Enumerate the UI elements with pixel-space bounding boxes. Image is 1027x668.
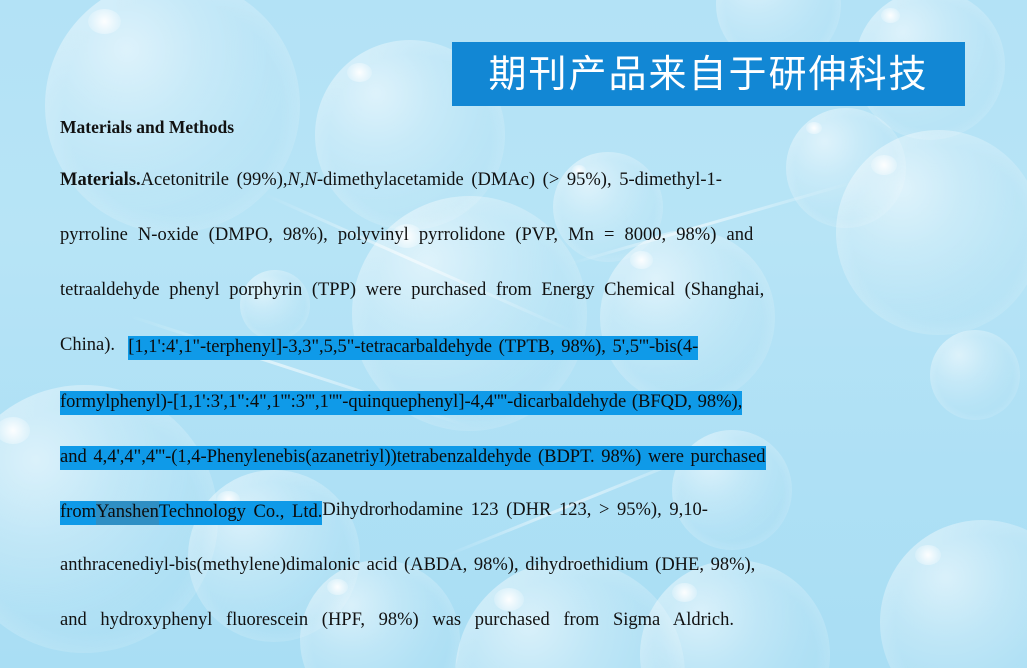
text-segment: and hydroxyphenyl fluorescein (HPF, 98%)… xyxy=(60,611,734,630)
selected-text-highlight[interactable]: Technology Co., Ltd. xyxy=(159,501,322,525)
title-banner: 期刊产品来自于研伸科技 xyxy=(452,42,965,106)
document-page: 期刊产品来自于研伸科技 Materials and Methods Materi… xyxy=(0,0,1027,668)
section-heading: Materials and Methods xyxy=(60,118,972,137)
text-segment: Acetonitrile (99%), xyxy=(141,171,288,190)
text-segment: China). xyxy=(60,336,128,355)
text-segment: Materials. xyxy=(60,171,141,190)
paragraph-line: pyrroline N-oxide (DMPO, 98%), polyvinyl… xyxy=(60,226,972,281)
selected-text-highlight[interactable]: and 4,4',4",4'''-(1,4-Phenylenebis(azane… xyxy=(60,446,766,470)
materials-paragraph[interactable]: Materials. Acetonitrile (99%), N,N-dimet… xyxy=(60,171,972,666)
text-segment: -dimethylacetamide (DMAc) (> 95%), 5-dim… xyxy=(317,171,722,190)
paragraph-line: and 4,4',4",4'''-(1,4-Phenylenebis(azane… xyxy=(60,446,972,501)
paragraph-line: China). [1,1':4',1"-terphenyl]-3,3",5,5"… xyxy=(60,336,972,391)
text-segment: Dihydrorhodamine 123 (DHR 123, > 95%), 9… xyxy=(322,501,708,520)
text-segment: tetraaldehyde phenyl porphyrin (TPP) wer… xyxy=(60,281,764,300)
document-body: Materials and Methods Materials. Acetoni… xyxy=(60,118,972,666)
banner-title-text: 期刊产品来自于研伸科技 xyxy=(488,55,928,93)
selected-text-highlight[interactable]: [1,1':4',1"-terphenyl]-3,3",5,5"-tetraca… xyxy=(128,336,698,360)
paragraph-line: tetraaldehyde phenyl porphyrin (TPP) wer… xyxy=(60,281,972,336)
paragraph-line: anthracenediyl-bis(methylene)dimalonic a… xyxy=(60,556,972,611)
text-segment: N,N xyxy=(288,171,317,190)
paragraph-line: and hydroxyphenyl fluorescein (HPF, 98%)… xyxy=(60,611,972,666)
paragraph-line: formylphenyl)-[1,1':3',1":4",1''':3''',1… xyxy=(60,391,972,446)
selected-text-highlight[interactable]: from xyxy=(60,501,96,525)
paragraph-line: Materials. Acetonitrile (99%), N,N-dimet… xyxy=(60,171,972,226)
selected-text-highlight[interactable]: formylphenyl)-[1,1':3',1":4",1''':3''',1… xyxy=(60,391,742,415)
text-segment: anthracenediyl-bis(methylene)dimalonic a… xyxy=(60,556,755,575)
paragraph-line: from Yanshen Technology Co., Ltd. Dihydr… xyxy=(60,501,972,556)
selected-term-highlight[interactable]: Yanshen xyxy=(96,501,159,525)
text-segment: pyrroline N-oxide (DMPO, 98%), polyvinyl… xyxy=(60,226,753,245)
